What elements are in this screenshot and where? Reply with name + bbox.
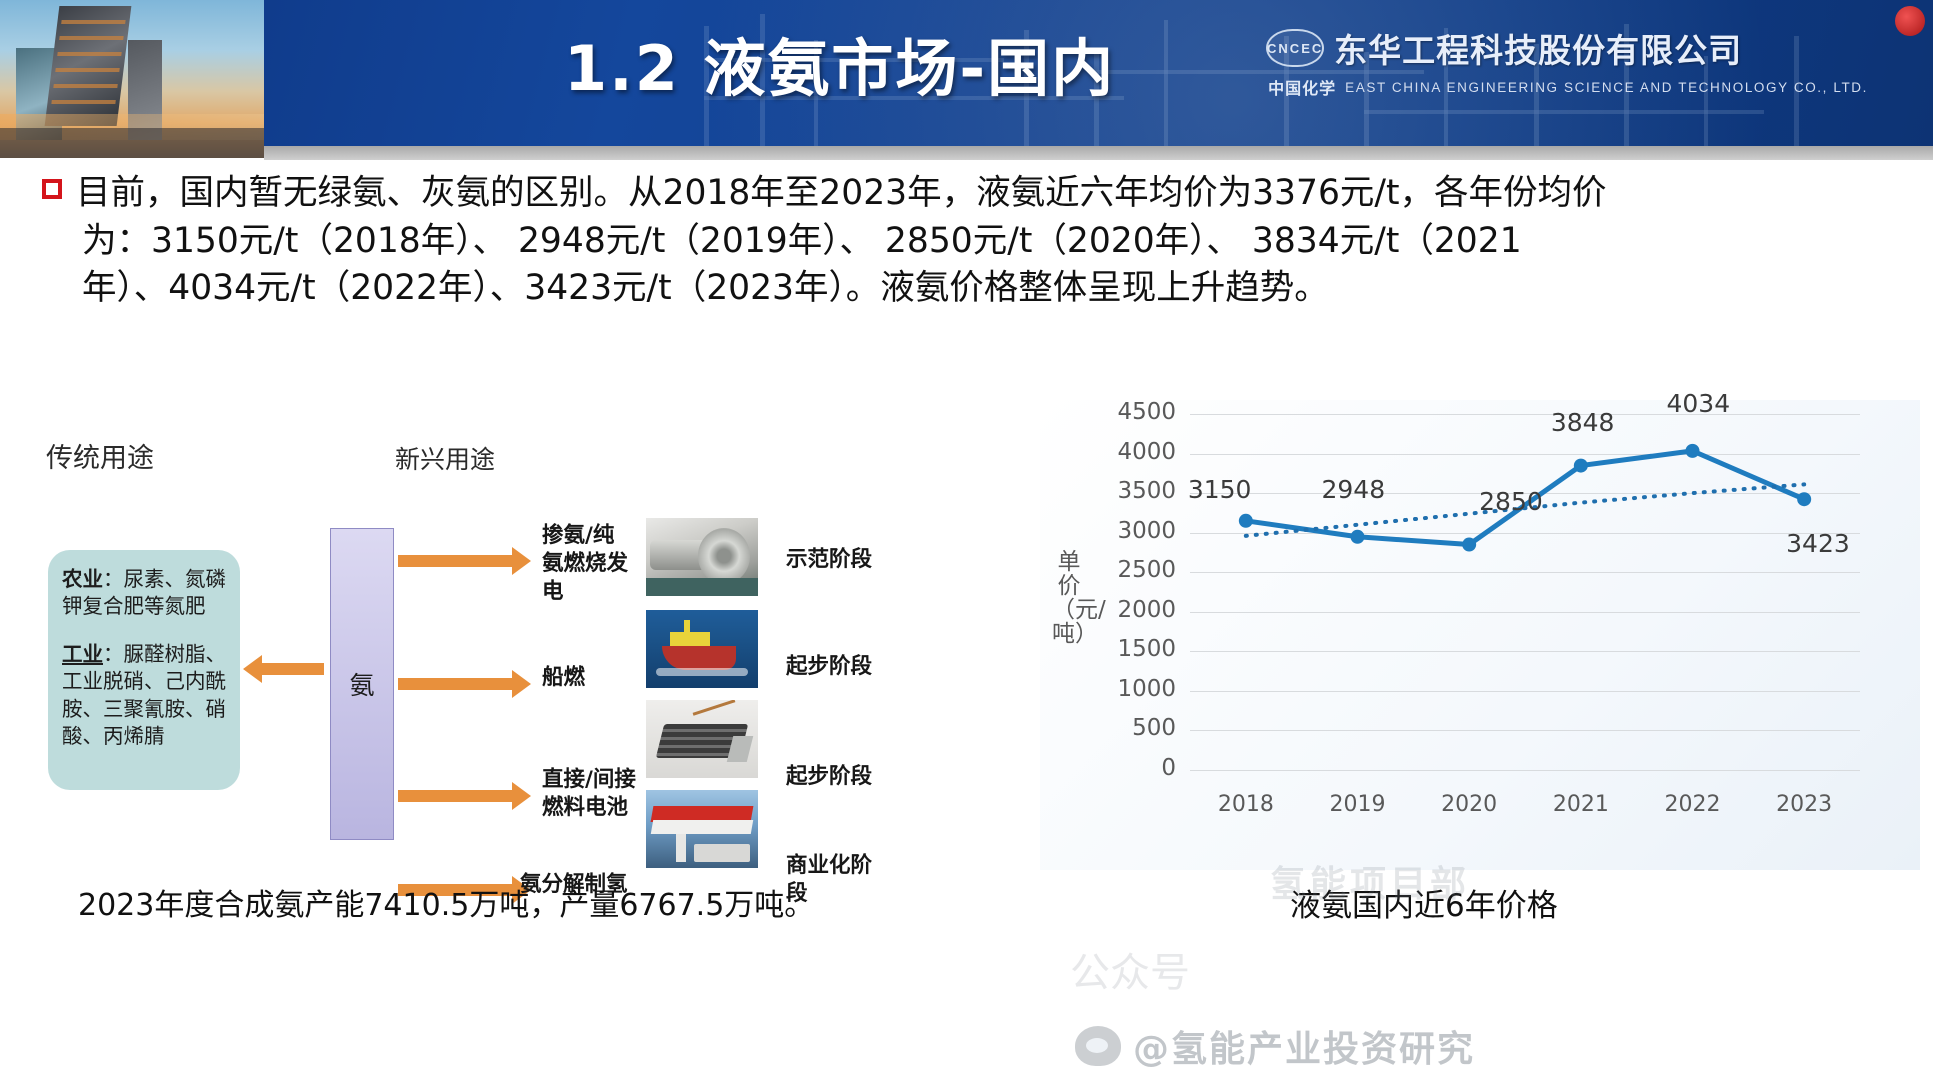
diagram-label-emerging: 新兴用途 <box>395 440 495 476</box>
chart-y-tick-label: 1500 <box>1090 636 1176 662</box>
logo-company-cn: 东华工程科技股份有限公司 <box>1334 24 1742 72</box>
arrow-row-2 <box>398 678 514 690</box>
fuel-cell-stack-photo <box>646 700 758 778</box>
chart-data-label: 2948 <box>1322 475 1386 504</box>
chart-data-label: 4034 <box>1667 389 1731 418</box>
chart-x-tick-label: 2022 <box>1648 792 1738 817</box>
chart-data-point <box>1797 492 1811 506</box>
header-grey-underline <box>264 146 1933 160</box>
use-label-row-2: 船燃 <box>542 664 634 692</box>
header-blue-banner: 1.2 液氨市场-国内 CNCEC 东华工程科技股份有限公司 中国化学 EAST… <box>264 0 1933 158</box>
stage-label-row-1: 示范阶段 <box>786 546 872 574</box>
header-building-photo <box>0 0 268 158</box>
chart-x-tick-label: 2023 <box>1759 792 1849 817</box>
watermark-brand-text: @氢能产业投资研究 <box>1133 1020 1475 1072</box>
ammonia-node: 氨 <box>330 528 394 840</box>
diagram-label-traditional: 传统用途 <box>46 436 154 475</box>
page-title: 1.2 液氨市场-国内 <box>564 18 1115 108</box>
chart-y-tick-label: 2000 <box>1090 597 1176 623</box>
cargo-ship-photo <box>646 610 758 688</box>
arrow-row-3 <box>398 790 514 802</box>
slide-header: 1.2 液氨市场-国内 CNCEC 东华工程科技股份有限公司 中国化学 EAST… <box>0 0 1933 160</box>
chart-x-tick-label: 2018 <box>1201 792 1291 817</box>
red-square-bullet-icon <box>42 179 62 199</box>
watermark-ghost-mid: 公众号 <box>1070 940 1190 998</box>
chart-x-tick-label: 2020 <box>1424 792 1514 817</box>
stage-label-row-2: 起步阶段 <box>786 653 872 681</box>
industry-title: 工业 <box>62 642 103 666</box>
chart-y-tick-label: 0 <box>1090 755 1176 781</box>
chart-x-tick-label: 2019 <box>1313 792 1403 817</box>
paragraph-line-1: 目前，国内暂无绿氨、灰氨的区别。从2018年至2023年，液氨近六年均价为337… <box>76 173 1607 213</box>
gas-turbine-photo <box>646 518 758 596</box>
stage-label-row-3: 起步阶段 <box>786 763 872 791</box>
chart-data-label: 3150 <box>1188 475 1252 504</box>
chart-x-tick-label: 2021 <box>1536 792 1626 817</box>
chart-y-tick-label: 4500 <box>1090 399 1176 425</box>
chart-y-tick-label: 1000 <box>1090 676 1176 702</box>
logo-company-en: EAST CHINA ENGINEERING SCIENCE AND TECHN… <box>1345 80 1868 95</box>
chart-data-label: 3423 <box>1786 529 1850 558</box>
chart-data-point <box>1351 530 1365 544</box>
weibo-icon <box>1075 1026 1121 1066</box>
agri-title: 农业 <box>62 567 103 591</box>
use-label-row-3: 直接/间接燃料电池 <box>542 766 638 822</box>
chart-data-label: 2850 <box>1479 487 1543 516</box>
chart-y-tick-label: 500 <box>1090 715 1176 741</box>
ammonia-usage-diagram: 传统用途 新兴用途 农业：尿素、氮磷钾复合肥等氮肥 工业：脲醛树脂、工业脱硝、己… <box>20 418 1030 838</box>
chart-gridline <box>1190 770 1860 771</box>
chart-y-tick-label: 3000 <box>1090 518 1176 544</box>
chart-data-point <box>1239 514 1253 528</box>
chart-y-tick-label: 4000 <box>1090 439 1176 465</box>
logo-group-cn: 中国化学 <box>1268 75 1336 99</box>
use-label-row-1: 掺氨/纯氨燃烧发电 <box>542 522 634 606</box>
arrow-row-1 <box>398 555 514 567</box>
caption-left: 2023年度合成氨产能7410.5万吨，产量6767.5万吨。 <box>78 880 814 924</box>
company-logo: CNCEC 东华工程科技股份有限公司 中国化学 EAST CHINA ENGIN… <box>1266 24 1868 99</box>
chart-data-label: 3848 <box>1551 408 1615 437</box>
watermark-ghost-top: 氢能项目部 <box>1270 855 1470 907</box>
corner-red-dot-icon <box>1895 6 1925 36</box>
cncec-globe-icon: CNCEC <box>1266 29 1324 67</box>
chart-plot-area: 0500100015002000250030003500400045002018… <box>1190 414 1860 770</box>
body-paragraph: 目前，国内暂无绿氨、灰氨的区别。从2018年至2023年，液氨近六年均价为337… <box>42 170 1902 313</box>
chart-data-point <box>1574 459 1588 473</box>
photo-ground <box>0 128 268 158</box>
slide-root: 1.2 液氨市场-国内 CNCEC 东华工程科技股份有限公司 中国化学 EAST… <box>0 0 1933 1080</box>
chart-y-tick-label: 2500 <box>1090 557 1176 583</box>
chart-y-axis-title: 单价（元/吨） <box>1052 550 1086 647</box>
paragraph-line-3: 年）、4034元/t（2022年）、3423元/t（2023年）。液氨价格整体呈… <box>42 265 1902 313</box>
chart-y-tick-label: 3500 <box>1090 478 1176 504</box>
hydrogen-refuel-station-photo <box>646 790 758 868</box>
paragraph-line-2: 为：3150元/t（2018年）、 2948元/t（2019年）、 2850元/… <box>42 218 1902 266</box>
price-line-chart: 单价（元/吨） 05001000150020002500300035004000… <box>1040 400 1920 870</box>
chart-series-svg <box>1190 414 1860 770</box>
traditional-uses-box: 农业：尿素、氮磷钾复合肥等氮肥 工业：脲醛树脂、工业脱硝、己内酰胺、三聚氰胺、硝… <box>48 550 240 790</box>
chart-data-point <box>1462 538 1476 552</box>
chart-data-point <box>1686 444 1700 458</box>
watermark-weibo: @氢能产业投资研究 <box>1075 1020 1475 1072</box>
building-shape-main <box>45 6 132 126</box>
arrow-to-traditional <box>260 663 324 675</box>
